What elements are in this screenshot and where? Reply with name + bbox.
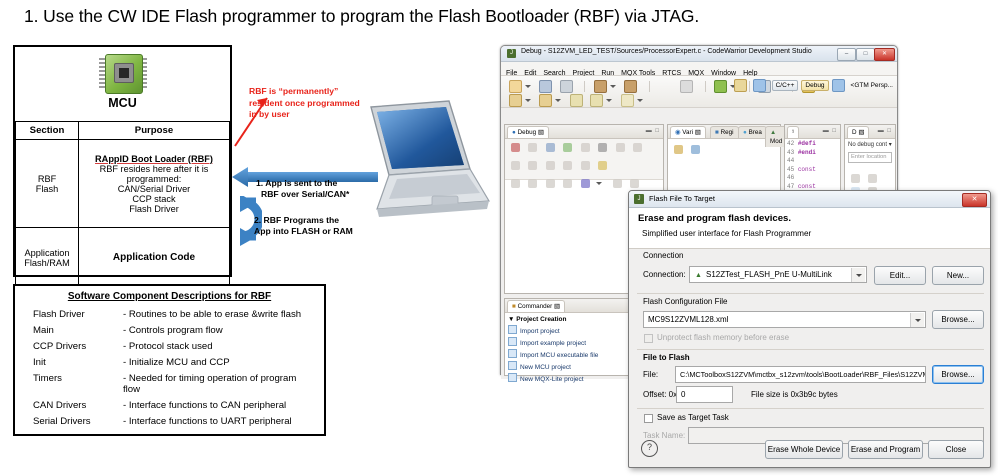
toolbar-row-2: [509, 92, 647, 106]
tab-pin-icon: ▧: [858, 129, 864, 136]
symbols-icon[interactable]: [613, 179, 622, 188]
connection-combo[interactable]: ▲ S12ZTest_FLASH_PnE U-MultiLink: [689, 266, 867, 283]
line-number: 43: [787, 149, 794, 156]
chevron-down-icon[interactable]: [525, 85, 531, 88]
connection-value: S12ZTest_FLASH_PnE U-MultiLink: [694, 270, 832, 279]
commander-section-header[interactable]: ▼ Project Creation: [508, 315, 598, 325]
dialog-close-button[interactable]: ✕: [962, 193, 987, 207]
chevron-down-icon[interactable]: [525, 99, 531, 102]
purpose-rbf-0: RAppID Boot Loader (RBF): [81, 154, 227, 164]
header-section: Section: [16, 122, 79, 140]
step2-line1: 2. RBF Programs the: [254, 215, 353, 226]
rbf-line2: Flash: [18, 184, 76, 194]
history-back-icon[interactable]: [851, 174, 860, 183]
cell-section-rbf: RBF Flash: [16, 140, 79, 228]
dialog-subheading: Simplified user interface for Flash Prog…: [642, 229, 811, 238]
microcontroller-chip-icon: [99, 51, 147, 95]
divider: [637, 293, 984, 294]
outline-view-tabbar: D ▧ ▬ □: [845, 125, 895, 139]
mcu-diagram-box: MCU Section Purpose RBF Flash RAppID Boo…: [13, 45, 232, 277]
step1-line2: RBF over Serial/CAN*: [256, 189, 349, 200]
ide-title-text: Debug - S12ZVM_LED_TEST/Sources/Processo…: [521, 48, 812, 55]
code-line: 45 const: [787, 166, 816, 175]
component-desc: - Interface functions to CAN peripheral: [121, 397, 318, 413]
divider: [637, 349, 984, 350]
chevron-down-icon[interactable]: ▾: [889, 142, 892, 148]
toolbar-separator: [649, 81, 650, 92]
file-field-label: File:: [643, 370, 658, 379]
flash-config-group-label: Flash Configuration File: [643, 297, 727, 306]
home-icon[interactable]: [868, 174, 877, 183]
cell-section-application: Application Flash/RAM: [16, 228, 79, 288]
save-as-target-task-label: Save as Target Task: [657, 413, 729, 422]
mcu-icon-wrap: MCU: [15, 51, 230, 110]
paste-icon[interactable]: [563, 179, 572, 188]
edit-connection-button[interactable]: Edit...: [874, 266, 926, 285]
dialog-title-text: Flash File To Target: [649, 194, 715, 203]
view-menu-icon[interactable]: [598, 161, 607, 170]
toolbar-separator: [584, 81, 585, 92]
list-item: Serial Drivers- Interface functions to U…: [21, 413, 318, 429]
import-example-icon: [508, 337, 517, 346]
debug-toolbar-row-2: [505, 157, 663, 175]
unprotect-flash-checkbox[interactable]: [644, 334, 653, 343]
line-text: #endi: [798, 149, 816, 156]
code-line: 42 #defi: [787, 140, 816, 149]
list-item: Init- Initialize MCU and CCP: [21, 354, 318, 370]
file-group-label: File to Flash: [643, 353, 690, 362]
erase-whole-device-button[interactable]: Erase Whole Device: [765, 440, 843, 459]
flash-file-to-target-dialog: J Flash File To Target ✕ Erase and progr…: [628, 190, 991, 468]
line-number: 47: [787, 183, 794, 190]
component-desc: - Needed for timing operation of program…: [121, 370, 318, 397]
tab-pin-icon: ▧: [538, 129, 544, 136]
commander-item-label: New MCU project: [520, 364, 571, 371]
component-desc: - Interface functions to UART peripheral: [121, 413, 318, 429]
codewarrior-app-icon: J: [507, 49, 516, 58]
step1-label: 1. App is sent to the RBF over Serial/CA…: [256, 178, 349, 200]
page-title: 1. Use the CW IDE Flash programmer to pr…: [24, 6, 699, 27]
browse-file-button[interactable]: Browse...: [932, 365, 984, 384]
export-icon[interactable]: [539, 94, 552, 107]
connection-group-label: Connection: [643, 251, 683, 260]
step-into-icon[interactable]: [616, 143, 625, 152]
forward-nav-icon[interactable]: [590, 94, 603, 107]
ide-maximize-button[interactable]: □: [856, 48, 875, 61]
unlink-icon[interactable]: [528, 179, 537, 188]
tab-breakpoints-label: Brea: [749, 129, 762, 136]
tab-variables[interactable]: ◉ Vari ▧: [670, 126, 706, 138]
ide-toolbar: C/C++ Debug <GTM Persp...: [501, 76, 897, 108]
line-text: #defi: [798, 140, 816, 147]
list-item: Timers- Needed for timing operation of p…: [21, 370, 318, 397]
ide-title-bar: J Debug - S12ZVM_LED_TEST/Sources/Proces…: [501, 46, 897, 62]
chevron-down-icon[interactable]: [555, 99, 561, 102]
perspective-cpp[interactable]: C/C++: [772, 80, 799, 91]
line-number: 45: [787, 166, 794, 173]
tab-debug[interactable]: ● Debug ▧: [507, 126, 549, 138]
disconnect-icon[interactable]: [528, 143, 537, 152]
code-view-minmax[interactable]: ▬ □: [823, 128, 837, 134]
step2-line2: App into FLASH or RAM: [254, 226, 353, 237]
purpose-rbf-2: programmed:: [81, 174, 227, 184]
tab-source-label: ¹: [792, 129, 794, 136]
perspective-switcher: C/C++ Debug <GTM Persp...: [734, 79, 893, 92]
purpose-rbf-5: Flash Driver: [81, 204, 227, 214]
ide-minimize-button[interactable]: –: [837, 48, 856, 61]
debug-context-selector[interactable]: No debug cont ▾: [848, 141, 894, 148]
code-line: 44: [787, 157, 816, 166]
line-text: const: [798, 166, 816, 173]
component-desc: - Protocol stack used: [121, 338, 318, 354]
debug-context-label: No debug cont: [848, 142, 887, 148]
tab-outline[interactable]: D ▧: [847, 126, 869, 138]
debug-toolbar-row-1: [505, 139, 663, 157]
software-components-table: Flash Driver- Routines to be able to era…: [21, 306, 318, 429]
step1-line1: 1. App is sent to the: [256, 178, 349, 189]
app-line1: Application: [18, 248, 76, 258]
component-desc: - Controls program flow: [121, 322, 318, 338]
list-item: Flash Driver- Routines to be able to era…: [21, 306, 318, 322]
outline-view-minmax[interactable]: ▬ □: [878, 128, 892, 134]
chevron-down-icon[interactable]: [596, 182, 602, 185]
new-mqx-lite-icon: [508, 373, 517, 382]
copy-icon[interactable]: [546, 179, 555, 188]
tab-pin-icon: ▧: [554, 303, 560, 310]
code-line: 43 #endi: [787, 149, 816, 158]
instruction-step-icon[interactable]: [546, 161, 555, 170]
divider: [637, 408, 984, 409]
tab-registers-label: Regi: [721, 129, 734, 136]
flash-config-value: MC9S12ZVML128.xml: [648, 315, 728, 324]
tab-debug-label: Debug: [518, 129, 537, 136]
app-line2: Flash/RAM: [18, 258, 76, 268]
commander-section-label: Project Creation: [516, 316, 566, 323]
component-name: Main: [21, 322, 121, 338]
dialog-content: Connection Connection: ▲ S12ZTest_FLASH_…: [629, 249, 990, 424]
purpose-rbf-3: CAN/Serial Driver: [81, 184, 227, 194]
list-item: Main- Controls program flow: [21, 322, 318, 338]
import-project-icon: [508, 325, 517, 334]
help-icon[interactable]: ?: [641, 440, 658, 457]
arrow1-head: [232, 167, 248, 187]
connection-field-label: Connection:: [643, 270, 686, 279]
dialog-heading: Erase and program flash devices.: [638, 213, 791, 224]
offset-input[interactable]: 0: [676, 386, 733, 403]
component-name: CCP Drivers: [21, 338, 121, 354]
step-return-icon[interactable]: [511, 161, 520, 170]
stop-icon[interactable]: [598, 143, 607, 152]
tab-breakpoints[interactable]: ● Brea: [738, 126, 767, 138]
step-over-icon[interactable]: [581, 143, 590, 152]
component-name: Timers: [21, 370, 121, 397]
expand-triangle-icon[interactable]: ▼: [508, 316, 514, 323]
import-icon[interactable]: [509, 94, 522, 107]
unprotect-flash-label: Unprotect flash memory before erase: [657, 333, 789, 342]
tab-source-file[interactable]: ¹: [787, 126, 799, 138]
new-connection-button[interactable]: New...: [932, 266, 984, 285]
list-item: CCP Drivers- Protocol stack used: [21, 338, 318, 354]
cell-purpose-application: Application Code: [79, 228, 230, 288]
commander-item-label: New MQX-Lite project: [520, 376, 584, 383]
ide-menu-bar: FileEditSearchProjectRunMQX ToolsRTCSMQX…: [501, 62, 897, 76]
offset-label: Offset: 0x: [643, 390, 677, 399]
table-header-row: Section Purpose: [16, 122, 230, 140]
commander-item-label: Import example project: [520, 340, 586, 347]
open-perspective-icon[interactable]: [734, 79, 747, 92]
list-item: CAN Drivers- Interface functions to CAN …: [21, 397, 318, 413]
rbf-line1: RBF: [18, 174, 76, 184]
line-number: 44: [787, 157, 794, 164]
commander-item-import-example[interactable]: Import example project: [508, 337, 598, 349]
chevron-down-icon[interactable]: [606, 99, 612, 102]
location-input[interactable]: Enter location: [848, 152, 892, 163]
component-desc: - Routines to be able to erase &write fl…: [121, 306, 318, 322]
component-name: Serial Drivers: [21, 413, 121, 429]
software-components-box: Software Component Descriptions for RBF …: [13, 284, 326, 436]
chevron-down-icon[interactable]: [637, 99, 643, 102]
code-line: 46: [787, 174, 816, 183]
flash-config-combo[interactable]: MC9S12ZVML128.xml: [643, 311, 926, 328]
line-number: 46: [787, 174, 794, 181]
resume-icon[interactable]: [563, 143, 572, 152]
laptop-illustration: [337, 97, 497, 232]
back-nav-icon[interactable]: [570, 94, 583, 107]
variables-view-tabbar: ◉ Vari ▧ ■ Regi ● Brea ▲ Mod: [668, 125, 780, 139]
toolbar-separator: [705, 81, 706, 92]
registers-toggle-icon[interactable]: [630, 179, 639, 188]
undo-icon[interactable]: [680, 80, 693, 93]
tab-modules-label: Mod: [770, 138, 782, 145]
chevron-down-icon[interactable]: [851, 268, 865, 283]
header-purpose: Purpose: [79, 122, 230, 140]
line-number: 42: [787, 140, 794, 147]
tab-variables-label: Vari: [682, 129, 693, 136]
commander-item-label: Import MCU executable file: [520, 352, 598, 359]
file-size-text: File size is 0x3b9c bytes: [751, 390, 838, 399]
tab-pin-icon: ▧: [695, 129, 701, 136]
terminate-icon[interactable]: [511, 143, 520, 152]
purpose-rbf-4: CCP stack: [81, 194, 227, 204]
gtm-perspective-icon: [832, 79, 845, 92]
component-name: CAN Drivers: [21, 397, 121, 413]
file-path-input[interactable]: C:\MCToolboxS12ZVM\mctbx_s12zvm\tools\Bo…: [675, 366, 926, 383]
debug-toolbar: [505, 139, 663, 180]
memory-icon[interactable]: [563, 161, 572, 170]
perspective-debug[interactable]: Debug: [801, 80, 828, 91]
erase-and-program-button[interactable]: Erase and Program: [848, 440, 923, 459]
dialog-header: Erase and program flash devices. Simplif…: [629, 208, 990, 249]
commander-item-new-mcu-project[interactable]: New MCU project: [508, 361, 598, 373]
cell-purpose-rbf: RAppID Boot Loader (RBF) RBF resides her…: [79, 140, 230, 228]
component-name: Init: [21, 354, 121, 370]
line-text: const: [798, 183, 816, 190]
save-as-target-task-checkbox[interactable]: [644, 414, 653, 423]
import-mcu-exe-icon: [508, 349, 517, 358]
task-name-label: Task Name:: [643, 431, 685, 440]
close-dialog-button[interactable]: Close: [928, 440, 984, 459]
cpp-perspective-icon: [753, 79, 766, 92]
component-desc: - Initialize MCU and CCP: [121, 354, 318, 370]
perspective-gtm[interactable]: <GTM Persp...: [851, 82, 893, 89]
debug-view-tabbar: ● Debug ▧ ▬ □: [505, 125, 663, 139]
dialog-app-icon: J: [634, 194, 644, 204]
commander-item-label: Import project: [520, 328, 560, 335]
chip-die: [114, 63, 134, 83]
tab-commander[interactable]: ■ Commander ▧: [507, 300, 565, 312]
tab-registers[interactable]: ■ Regi: [710, 126, 739, 138]
suspend-icon[interactable]: [546, 143, 555, 152]
tab-outline-label: D: [852, 129, 857, 136]
tab-commander-label: Commander: [518, 303, 553, 310]
restart-icon[interactable]: [633, 143, 642, 152]
browse-flash-config-button[interactable]: Browse...: [932, 310, 984, 329]
commander-list: ▼ Project Creation Import project Import…: [508, 315, 598, 385]
ide-close-button[interactable]: ✕: [874, 48, 895, 61]
purpose-rbf-1: RBF resides here after it is: [81, 164, 227, 174]
chevron-down-icon[interactable]: [610, 85, 616, 88]
filter-icon[interactable]: [581, 161, 590, 170]
debug-view-minmax[interactable]: ▬ □: [646, 128, 660, 134]
history-icon[interactable]: [621, 94, 634, 107]
debug-icon[interactable]: [714, 80, 727, 93]
commander-item-import-project[interactable]: Import project: [508, 325, 598, 337]
table-row-rbf: RBF Flash RAppID Boot Loader (RBF) RBF r…: [16, 140, 230, 228]
component-name: Flash Driver: [21, 306, 121, 322]
variable-entry-icon-2: [691, 145, 700, 154]
step2-label: 2. RBF Programs the App into FLASH or RA…: [254, 215, 353, 237]
software-components-title: Software Component Descriptions for RBF: [21, 291, 318, 302]
dialog-title-bar: J Flash File To Target ✕: [629, 191, 990, 208]
variables-content-icons: [672, 141, 702, 159]
link-icon[interactable]: [511, 179, 520, 188]
mcu-label: MCU: [15, 96, 230, 110]
new-mcu-project-icon: [508, 361, 517, 370]
commander-item-import-mcu-exe[interactable]: Import MCU executable file: [508, 349, 598, 361]
code-editor-tabbar: ¹ ▬ □: [785, 125, 840, 139]
mixed-mode-icon[interactable]: [581, 179, 590, 188]
table-row-application: Application Flash/RAM Application Code: [16, 228, 230, 288]
variable-entry-icon: [674, 145, 683, 154]
connection-device-icon: ▲: [695, 270, 702, 282]
mcu-memory-table: Section Purpose RBF Flash RAppID Boot Lo…: [15, 121, 230, 288]
chevron-down-icon[interactable]: [910, 313, 924, 328]
run-to-line-icon[interactable]: [528, 161, 537, 170]
commander-item-new-mqx-lite[interactable]: New MQX-Lite project: [508, 373, 598, 385]
